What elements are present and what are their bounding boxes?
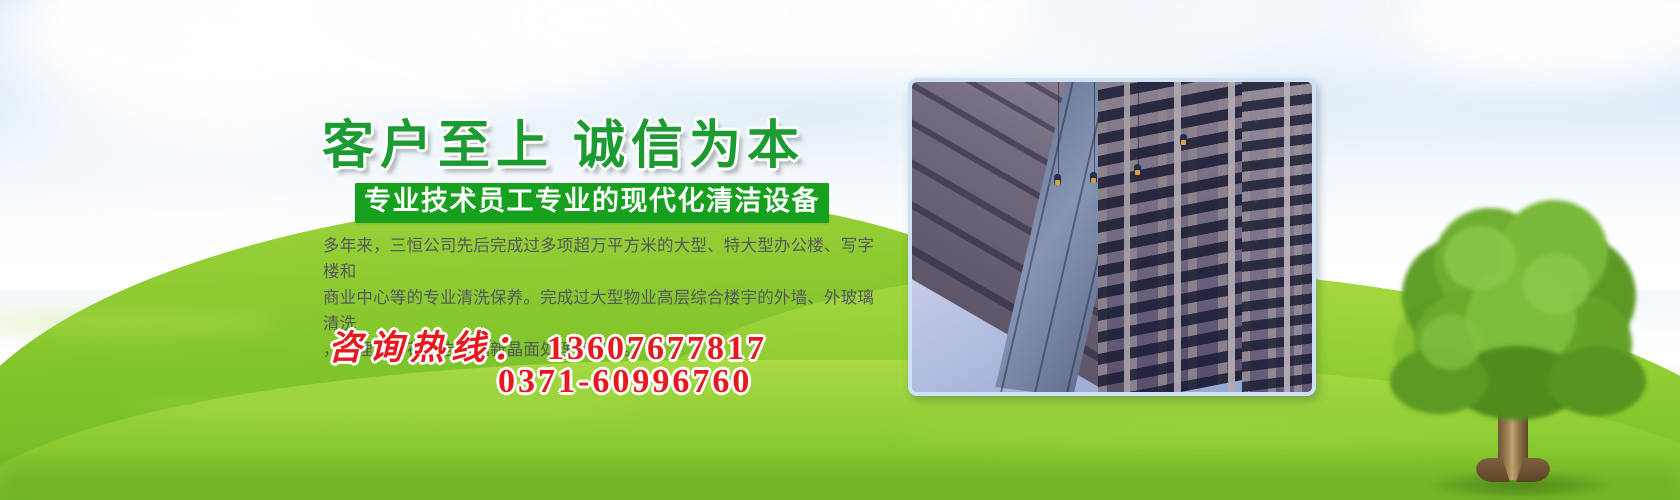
secondary-phone-number[interactable]: 0371-60996760 bbox=[498, 363, 752, 401]
tree-canopy bbox=[1444, 226, 1516, 290]
photo-facade-far bbox=[1242, 78, 1316, 396]
hotline-label: 咨询热线： bbox=[328, 330, 533, 367]
tree-canopy bbox=[1420, 314, 1482, 370]
photo-window-cleaner bbox=[1090, 172, 1097, 183]
hotline-row: 咨询热线：13607677817 bbox=[328, 320, 767, 369]
photo-rope bbox=[1058, 82, 1059, 178]
subtitle-bar: 专业技术员工专业的现代化清洁设备 bbox=[355, 183, 829, 223]
photo-rope bbox=[1094, 82, 1095, 176]
page-title: 客户至上 诚信为本 bbox=[322, 103, 805, 178]
subtitle-text: 专业技术员工专业的现代化清洁设备 bbox=[364, 187, 820, 217]
photo-rope bbox=[1138, 82, 1139, 168]
building-photo[interactable] bbox=[908, 78, 1316, 396]
photo-window-cleaner bbox=[1180, 134, 1187, 145]
tree-canopy bbox=[1548, 346, 1646, 416]
description-line: 多年来，三恒公司先后完成过多项超万平方米的大型、特大型办公楼、写字楼和 bbox=[323, 233, 889, 285]
tree-canopy bbox=[1522, 254, 1590, 314]
promo-banner: 客户至上 诚信为本 专业技术员工专业的现代化清洁设备 多年来，三恒公司先后完成过… bbox=[0, 0, 1680, 500]
photo-window-cleaner bbox=[1054, 174, 1061, 185]
foreground-tree bbox=[1390, 196, 1650, 500]
hotline-number[interactable]: 13607677817 bbox=[547, 330, 767, 367]
photo-window-cleaner bbox=[1134, 164, 1141, 175]
